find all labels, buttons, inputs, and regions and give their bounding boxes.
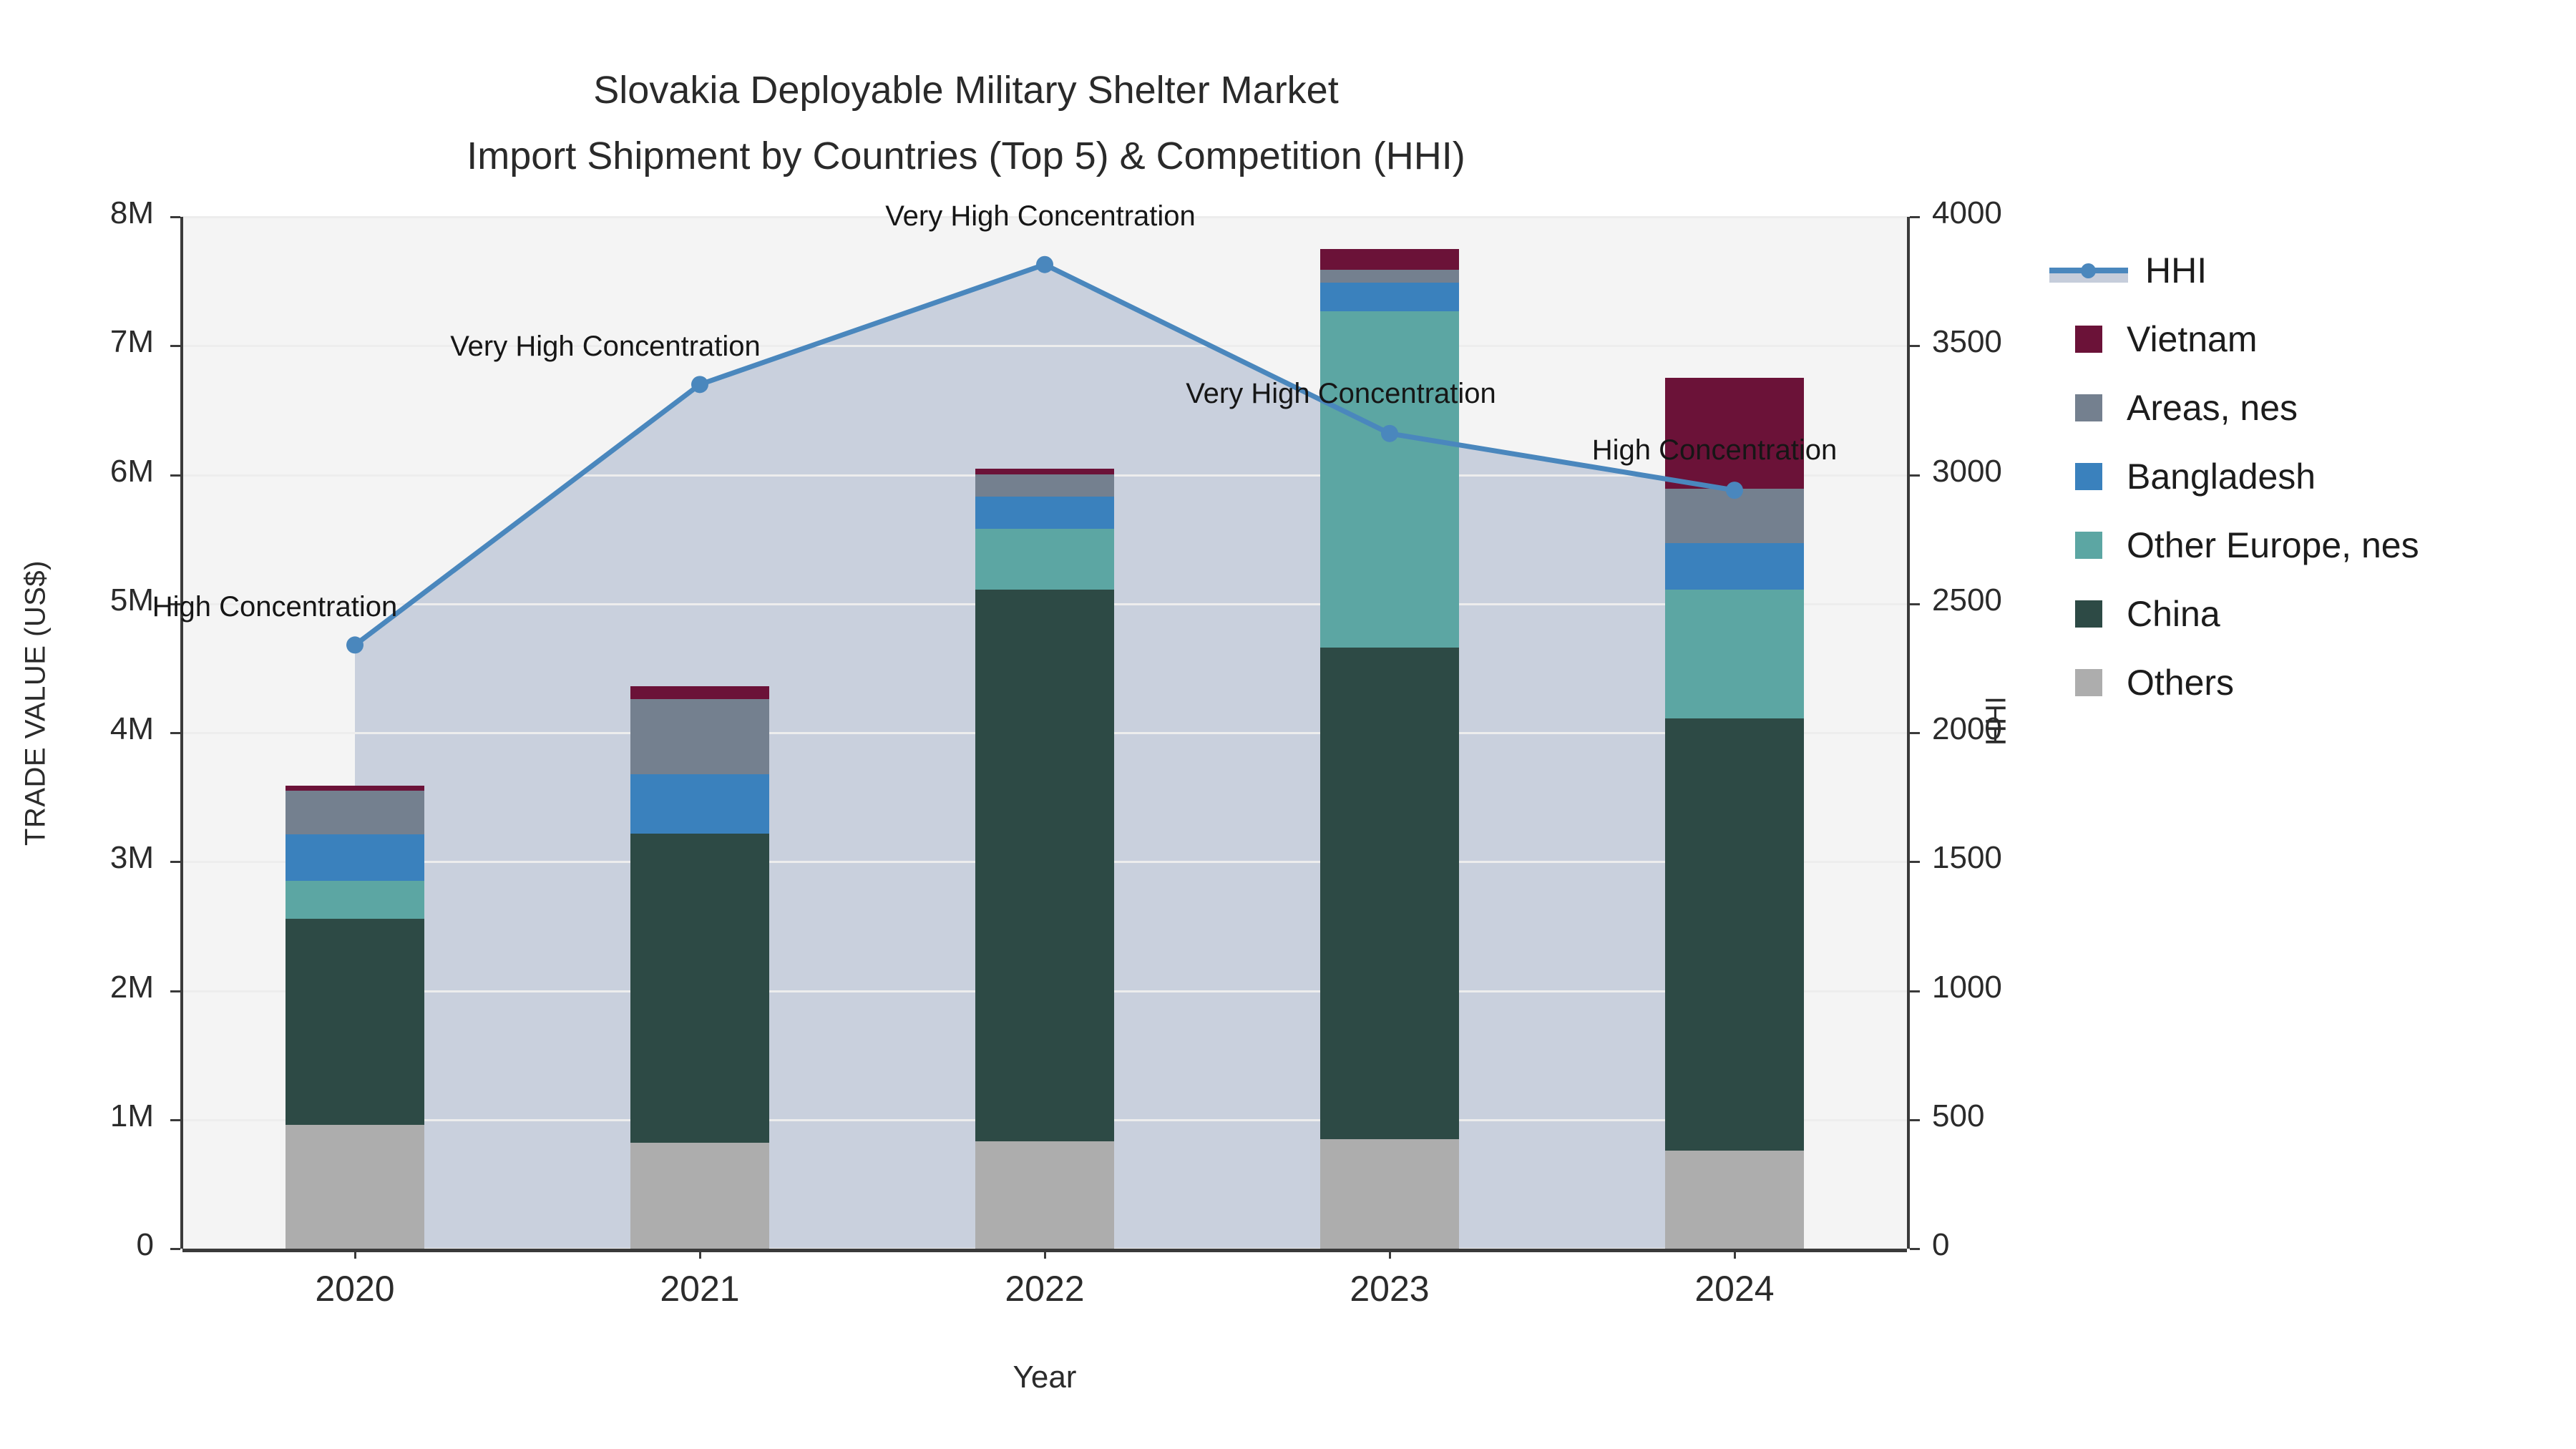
x-tick [1389, 1249, 1391, 1259]
y-tick-label-right: 1500 [1932, 840, 2002, 876]
legend: HHIVietnamAreas, nesBangladeshOther Euro… [2075, 236, 2562, 717]
y-tick-right [1910, 990, 1920, 992]
chart-title-line-1: Slovakia Deployable Military Shelter Mar… [0, 57, 1932, 123]
x-axis-title: Year [182, 1360, 1907, 1395]
legend-label: Vietnam [2127, 318, 2258, 360]
legend-item-others[interactable]: Others [2075, 648, 2562, 717]
legend-item-vietnam[interactable]: Vietnam [2075, 305, 2562, 374]
y-tick-right [1910, 732, 1920, 734]
y-tick-left [170, 1248, 180, 1250]
y-tick-right [1910, 861, 1920, 863]
legend-label: Areas, nes [2127, 387, 2298, 429]
legend-swatch-icon [2075, 326, 2102, 353]
legend-label: HHI [2145, 250, 2207, 291]
hhi-marker-2023[interactable] [1381, 425, 1398, 442]
y-tick-label-right: 0 [1932, 1227, 1949, 1263]
hhi-marker-2024[interactable] [1726, 482, 1743, 499]
y-tick-right [1910, 603, 1920, 605]
x-tick [354, 1249, 356, 1259]
y-tick-left [170, 345, 180, 347]
y-tick-left [170, 216, 180, 218]
y-tick-left [170, 474, 180, 477]
x-tick [1734, 1249, 1736, 1259]
y-tick-left [170, 732, 180, 734]
x-tick-label-2020: 2020 [262, 1268, 448, 1309]
y-tick-label-left: 2M [110, 970, 154, 1005]
x-tick [1044, 1249, 1046, 1259]
legend-item-other-europe-nes[interactable]: Other Europe, nes [2075, 511, 2562, 580]
chart-root: Slovakia Deployable Military Shelter Mar… [0, 0, 2576, 1449]
hhi-annotation-2021: Very High Concentration [376, 331, 834, 363]
y-tick-label-right: 3500 [1932, 324, 2002, 360]
plot-area [182, 217, 1907, 1249]
legend-item-areas-nes[interactable]: Areas, nes [2075, 374, 2562, 442]
legend-label: Bangladesh [2127, 456, 2316, 497]
chart-title: Slovakia Deployable Military Shelter Mar… [0, 57, 1932, 189]
x-tick-label-2024: 2024 [1641, 1268, 1828, 1309]
y-tick-right [1910, 1119, 1920, 1121]
y-tick-left [170, 990, 180, 992]
y-axis-left-line [180, 217, 183, 1249]
y-tick-label-right: 4000 [1932, 195, 2002, 231]
hhi-annotation-2024: High Concentration [1485, 434, 1943, 467]
y-tick-left [170, 861, 180, 863]
y-tick-label-left: 0 [137, 1227, 154, 1263]
y-tick-right [1910, 216, 1920, 218]
hhi-annotation-2020: High Concentration [46, 591, 504, 623]
hhi-annotation-2023: Very High Concentration [1112, 378, 1570, 410]
legend-label: China [2127, 593, 2220, 635]
legend-label: Others [2127, 662, 2234, 703]
x-tick-label-2022: 2022 [952, 1268, 1138, 1309]
y-tick-label-left: 6M [110, 454, 154, 489]
hhi-marker-2020[interactable] [346, 636, 364, 653]
y-tick-left [170, 1119, 180, 1121]
hhi-marker-2022[interactable] [1036, 256, 1053, 273]
y-tick-right [1910, 1248, 1920, 1250]
y-tick-label-left: 4M [110, 711, 154, 747]
legend-swatch-icon [2075, 463, 2102, 490]
legend-swatch-icon [2075, 532, 2102, 559]
y-tick-right [1910, 345, 1920, 347]
legend-swatch-icon [2075, 600, 2102, 628]
legend-label: Other Europe, nes [2127, 525, 2419, 566]
y-tick-right [1910, 474, 1920, 477]
x-tick-label-2021: 2021 [607, 1268, 793, 1309]
chart-title-line-2: Import Shipment by Countries (Top 5) & C… [0, 123, 1932, 189]
y-tick-label-left: 7M [110, 324, 154, 360]
hhi-line [182, 217, 1907, 1249]
x-tick-label-2023: 2023 [1297, 1268, 1483, 1309]
hhi-marker-2021[interactable] [691, 376, 708, 393]
y-tick-label-right: 1000 [1932, 970, 2002, 1005]
y-tick-label-right: 500 [1932, 1098, 1984, 1134]
y-tick-label-right: 2500 [1932, 582, 2002, 618]
legend-swatch-icon [2075, 394, 2102, 421]
legend-swatch-icon [2075, 669, 2102, 696]
y-tick-label-left: 8M [110, 195, 154, 231]
legend-line-marker-icon [2049, 257, 2128, 284]
y-axis-left-title: TRADE VALUE (US$) [20, 482, 52, 925]
y-tick-label-left: 1M [110, 1098, 154, 1134]
legend-item-hhi[interactable]: HHI [2075, 236, 2562, 305]
y-axis-right-title: HHI [1981, 614, 2013, 829]
legend-item-china[interactable]: China [2075, 580, 2562, 648]
y-tick-label-left: 3M [110, 840, 154, 876]
legend-item-bangladesh[interactable]: Bangladesh [2075, 442, 2562, 511]
hhi-annotation-2022: Very High Concentration [811, 200, 1269, 233]
x-tick [699, 1249, 701, 1259]
